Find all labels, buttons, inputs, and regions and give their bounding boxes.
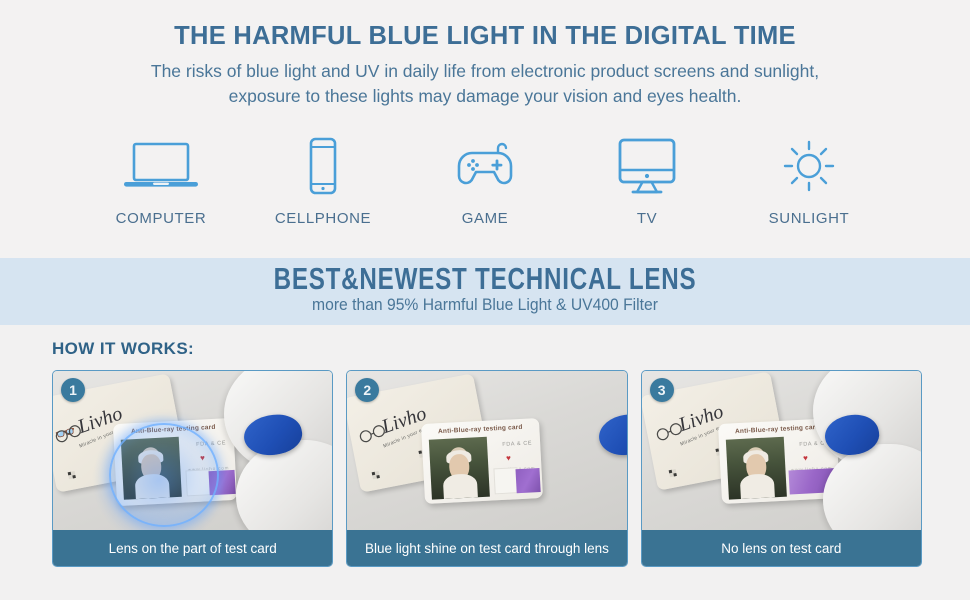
step-photo-1: 👓 Livho Miracle in your eyes Anti-Blue-r… bbox=[53, 371, 332, 530]
blue-light-sources-row: COMPUTER CELLPHONE bbox=[0, 136, 970, 227]
heart-icon: ♥ bbox=[803, 453, 808, 462]
how-it-works-card-3[interactable]: Livho Miracle in your eyes Anti-Blue-ray… bbox=[641, 370, 922, 567]
banner-subtitle: more than 95% Harmful Blue Light & UV400… bbox=[24, 296, 946, 314]
how-it-works-card-2[interactable]: Livho Miracle in your eyes Anti-Blue-ray… bbox=[346, 370, 627, 567]
source-label-computer: COMPUTER bbox=[80, 210, 242, 227]
hero-subtitle-line-2: exposure to these lights may damage your… bbox=[105, 84, 865, 109]
test-card-cert-2: FDA & CE bbox=[502, 440, 532, 448]
source-item-computer: COMPUTER bbox=[80, 136, 242, 227]
laptop-icon bbox=[80, 136, 242, 196]
step-photo-3: Livho Miracle in your eyes Anti-Blue-ray… bbox=[642, 371, 921, 530]
how-it-works-section: HOW IT WORKS: bbox=[0, 325, 970, 359]
source-item-tv: TV bbox=[566, 136, 728, 227]
gamepad-icon bbox=[404, 136, 566, 196]
source-label-cellphone: CELLPHONE bbox=[242, 210, 404, 227]
step-caption-3: No lens on test card bbox=[642, 530, 921, 566]
step-badge-3: 3 bbox=[650, 378, 674, 402]
heart-icon: ♥ bbox=[506, 453, 511, 462]
how-it-works-cards: 👓 Livho Miracle in your eyes Anti-Blue-r… bbox=[0, 359, 970, 567]
banner-title: BEST&NEWEST TECHNICAL LENS bbox=[107, 263, 864, 296]
step-caption-1: Lens on the part of test card bbox=[53, 530, 332, 566]
how-it-works-heading: HOW IT WORKS: bbox=[52, 339, 970, 359]
technical-lens-banner: BEST&NEWEST TECHNICAL LENS more than 95%… bbox=[0, 258, 970, 325]
hero-section: THE HARMFUL BLUE LIGHT IN THE DIGITAL TI… bbox=[0, 0, 970, 258]
how-it-works-card-1[interactable]: 👓 Livho Miracle in your eyes Anti-Blue-r… bbox=[52, 370, 333, 567]
smartphone-icon bbox=[242, 136, 404, 196]
step-badge-1: 1 bbox=[61, 378, 85, 402]
sun-icon bbox=[728, 136, 890, 196]
source-item-sunlight: SUNLIGHT bbox=[728, 136, 890, 227]
source-item-game: GAME bbox=[404, 136, 566, 227]
source-label-tv: TV bbox=[566, 210, 728, 227]
source-label-sunlight: SUNLIGHT bbox=[728, 210, 890, 227]
test-card-title-2: Anti-Blue-ray testing card bbox=[422, 423, 540, 436]
source-item-cellphone: CELLPHONE bbox=[242, 136, 404, 227]
step-caption-2: Blue light shine on test card through le… bbox=[347, 530, 626, 566]
step-photo-2: Livho Miracle in your eyes Anti-Blue-ray… bbox=[347, 371, 626, 530]
lens-highlight-ring bbox=[109, 423, 219, 527]
page-title: THE HARMFUL BLUE LIGHT IN THE DIGITAL TI… bbox=[0, 22, 970, 50]
hero-subtitle-line-1: The risks of blue light and UV in daily … bbox=[105, 59, 865, 84]
source-label-game: GAME bbox=[404, 210, 566, 227]
blue-lens bbox=[595, 409, 627, 461]
tv-monitor-icon bbox=[566, 136, 728, 196]
test-card-2: Anti-Blue-ray testing card FDA & CE ♥ ww… bbox=[421, 418, 543, 504]
